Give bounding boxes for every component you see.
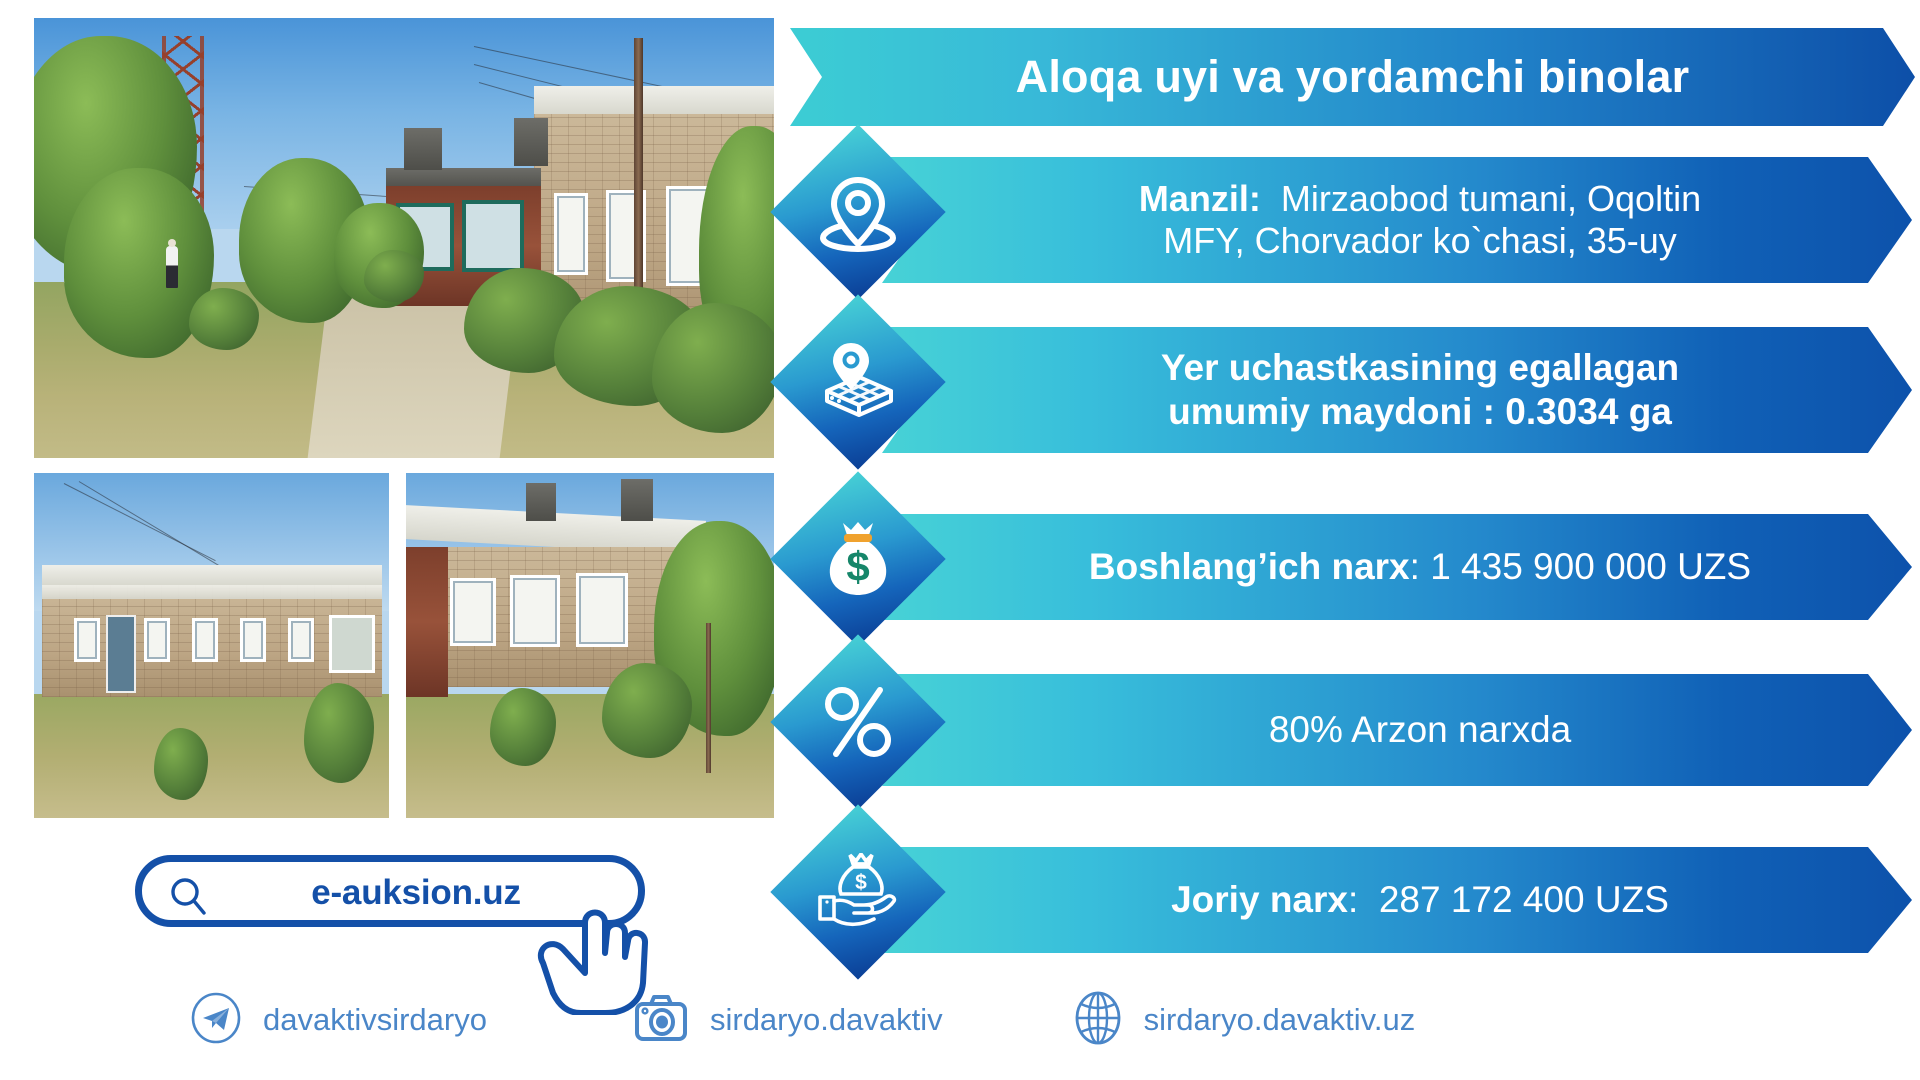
start-price-text: Boshlang’ich narx: 1 435 900 000 UZS	[882, 545, 1912, 589]
current-price-separator: :	[1348, 879, 1358, 920]
info-row-banner: Boshlang’ich narx: 1 435 900 000 UZS	[882, 514, 1912, 620]
website-url: sirdaryo.davaktiv.uz	[1144, 1002, 1416, 1038]
address-line-2: MFY, Chorvador ko`chasi, 35-uy	[1163, 220, 1677, 261]
svg-text:$: $	[846, 543, 869, 590]
info-row-banner: 80% Arzon narxda	[882, 674, 1912, 786]
current-price-label: Joriy narx	[1171, 879, 1348, 920]
current-price-text: Joriy narx: 287 172 400 UZS	[882, 878, 1912, 922]
address-text: Manzil: Mirzaobod tumani, Oqoltin MFY, C…	[882, 178, 1912, 263]
side-building-photo	[34, 473, 389, 818]
svg-text:$: $	[855, 871, 867, 894]
instagram-handle: sirdaryo.davaktiv	[710, 1002, 943, 1038]
telegram-icon	[190, 992, 242, 1049]
info-panel: Aloqa uyi va yordamchi binolar Manzil: M…	[790, 0, 1920, 1000]
percent-icon	[820, 682, 896, 762]
bush	[304, 683, 374, 783]
location-pin-icon	[819, 172, 897, 252]
info-row-banner: Joriy narx: 287 172 400 UZS	[882, 847, 1912, 953]
start-price-value: 1 435 900 000 UZS	[1430, 546, 1751, 587]
page-title-text: Aloqa uyi va yordamchi binolar	[986, 51, 1720, 103]
telegram-handle: davaktivsirdaryo	[263, 1002, 487, 1038]
info-row-banner: Manzil: Mirzaobod tumani, Oqoltin MFY, C…	[882, 157, 1912, 283]
photo-collage	[34, 18, 774, 848]
building-roof	[42, 565, 382, 587]
land-plot-icon	[817, 341, 899, 423]
current-price-badge: $	[770, 804, 945, 979]
chimney	[526, 483, 556, 521]
address-value-part1: Mirzaobod tumani, Oqoltin	[1281, 178, 1701, 219]
person	[166, 246, 178, 288]
window	[510, 575, 560, 647]
social-link-instagram[interactable]: sirdaryo.davaktiv	[633, 992, 943, 1049]
chimney	[404, 128, 442, 170]
bush	[364, 250, 424, 302]
bush	[490, 688, 556, 766]
money-bag-icon: $	[821, 519, 895, 599]
window	[554, 193, 588, 275]
window	[144, 618, 170, 662]
wooden-porch	[406, 547, 448, 697]
start-price-badge: $	[770, 471, 945, 646]
land-area-line-1: Yer uchastkasining egallagan	[1161, 347, 1679, 388]
door	[106, 615, 136, 693]
start-price-separator: :	[1410, 546, 1420, 587]
wall-trim	[42, 585, 382, 599]
chimney	[621, 479, 653, 521]
window	[240, 618, 266, 662]
page-title: Aloqa uyi va yordamchi binolar	[790, 28, 1915, 126]
info-row-banner: Yer uchastkasining egallagan umumiy mayd…	[882, 327, 1912, 453]
building-roof	[534, 86, 774, 116]
garage-door	[329, 615, 375, 673]
bush	[602, 663, 692, 758]
window	[462, 200, 524, 272]
bush	[154, 728, 208, 800]
discount-text: 80% Arzon narxda	[882, 708, 1912, 752]
main-building-exterior-photo	[34, 18, 774, 458]
utility-pole	[634, 38, 643, 298]
window	[450, 578, 496, 646]
window	[576, 573, 628, 647]
address-line-1: Manzil: Mirzaobod tumani, Oqoltin	[1139, 178, 1701, 219]
search-bar-graphic[interactable]: e-auksion.uz	[135, 855, 675, 940]
current-price-value: 287 172 400 UZS	[1379, 879, 1669, 920]
land-area-line-2: umumiy maydoni : 0.3034 ga	[1168, 391, 1672, 432]
bush	[189, 288, 259, 350]
window	[74, 618, 100, 662]
start-price-label: Boshlang’ich narx	[1089, 546, 1410, 587]
hand-money-icon: $	[816, 853, 900, 931]
front-building-photo	[406, 473, 774, 818]
sapling-trunk	[706, 623, 711, 773]
window	[288, 618, 314, 662]
social-link-telegram[interactable]: davaktivsirdaryo	[190, 992, 487, 1049]
chimney	[514, 118, 548, 166]
address-label: Manzil:	[1139, 178, 1261, 219]
window	[192, 618, 218, 662]
land-area-text: Yer uchastkasining egallagan umumiy mayd…	[882, 346, 1912, 433]
instagram-camera-icon	[633, 992, 689, 1049]
